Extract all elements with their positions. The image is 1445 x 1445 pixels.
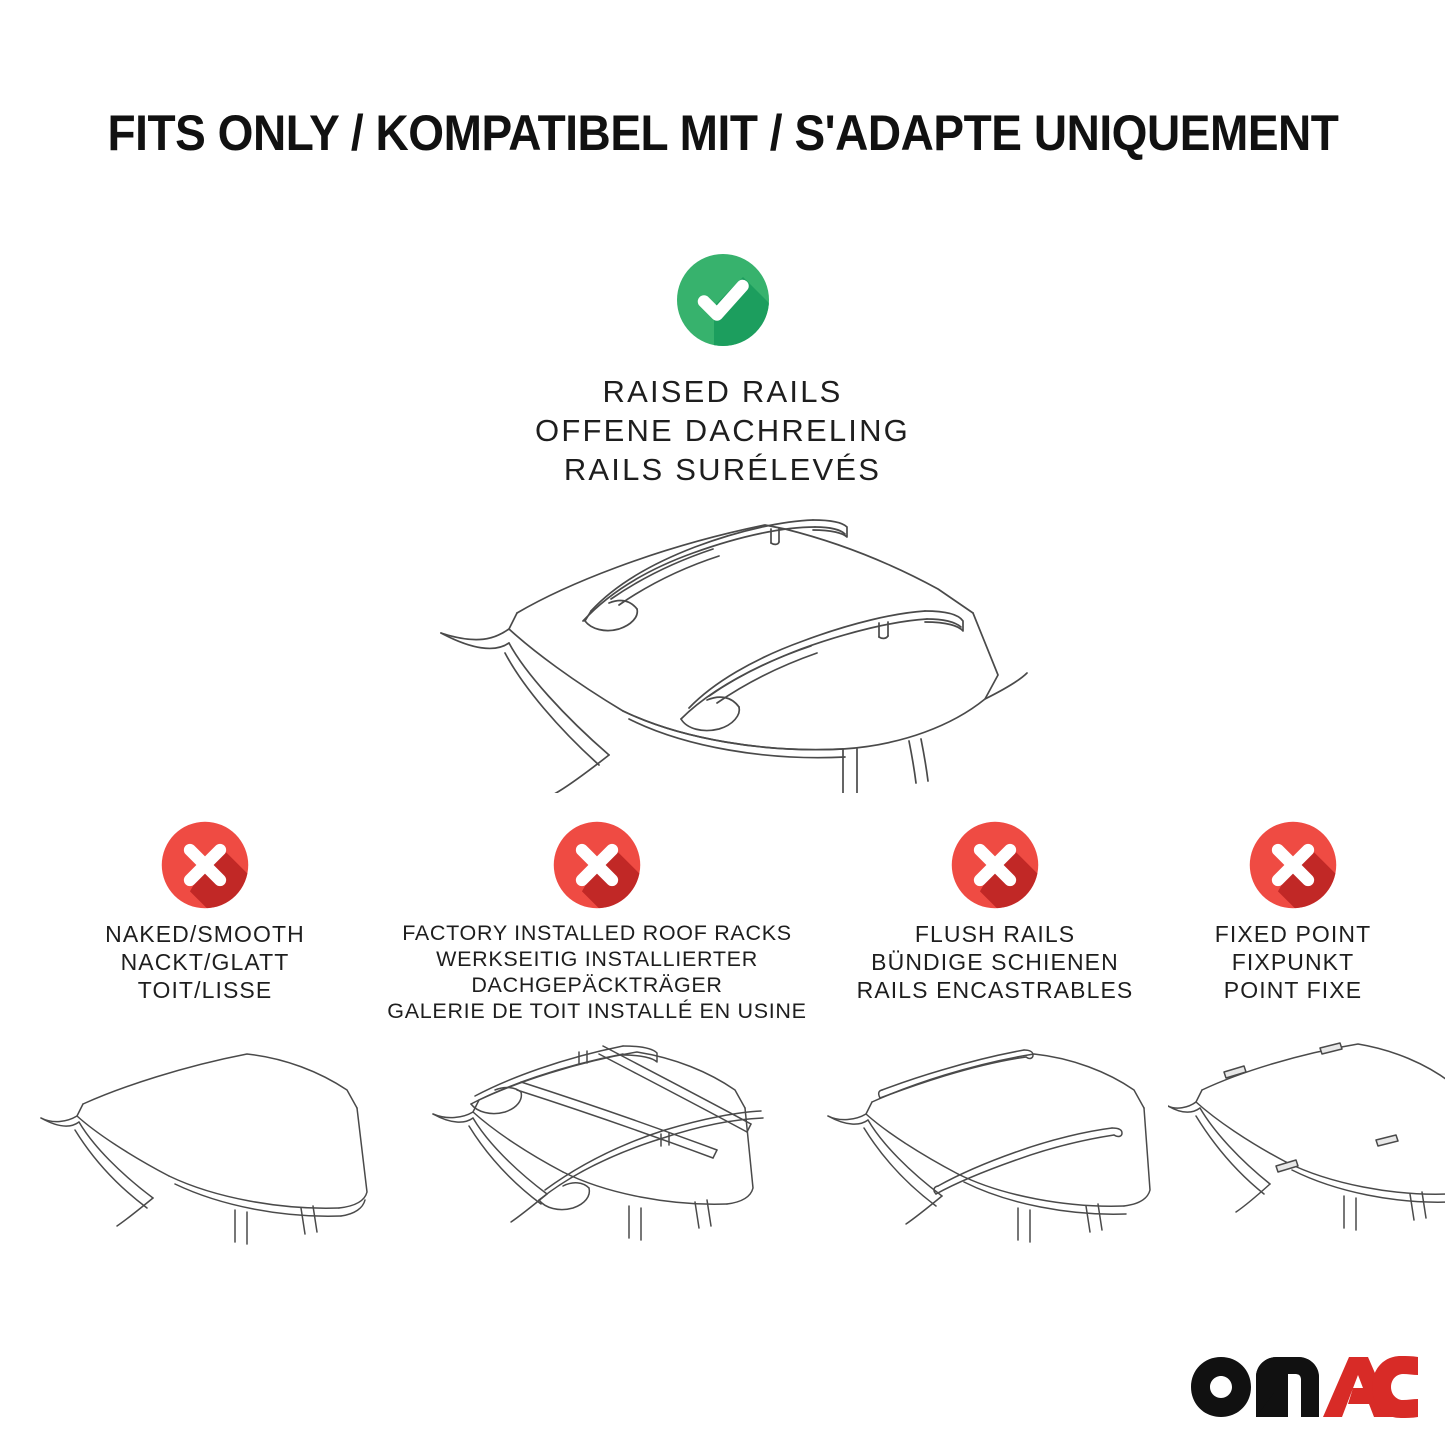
- label-line-fr: GALERIE DE TOIT INSTALLÉ EN USINE: [372, 998, 822, 1024]
- label-line-fr: RAILS ENCASTRABLES: [820, 976, 1170, 1004]
- label-line-en: NAKED/SMOOTH: [30, 920, 380, 948]
- cross-circle-icon: [1246, 818, 1340, 912]
- omac-logo: [1190, 1355, 1420, 1421]
- label-line-fr: POINT FIXE: [1168, 976, 1418, 1004]
- label-line-fr: TOIT/LISSE: [30, 976, 380, 1004]
- car-roof-fixed-points-illustration: [1168, 1028, 1445, 1258]
- compatible-label-line-de: OFFENE DACHRELING: [0, 411, 1445, 450]
- cross-circle-icon: [158, 818, 252, 912]
- label-line-de: NACKT/GLATT: [30, 948, 380, 976]
- incompatible-label-factory-racks: FACTORY INSTALLED ROOF RACKS WERKSEITIG …: [372, 920, 822, 1024]
- cross-circle-icon: [550, 818, 644, 912]
- car-roof-raised-rails-illustration: [413, 503, 1033, 793]
- label-line-de: BÜNDIGE SCHIENEN: [820, 948, 1170, 976]
- incompatible-label-fixed-point: FIXED POINT FIXPUNKT POINT FIXE: [1168, 920, 1418, 1004]
- compatible-label-line-en: RAISED RAILS: [0, 372, 1445, 411]
- compatible-label: RAISED RAILS OFFENE DACHRELING RAILS SUR…: [0, 372, 1445, 489]
- compatible-label-line-fr: RAILS SURÉLEVÉS: [0, 450, 1445, 489]
- label-line-de: FIXPUNKT: [1168, 948, 1418, 976]
- label-line-de-2: DACHGEPÄCKTRÄGER: [372, 972, 822, 998]
- car-roof-flush-rails-illustration: [820, 1028, 1170, 1258]
- label-line-en: FLUSH RAILS: [820, 920, 1170, 948]
- label-line-de-1: WERKSEITIG INSTALLIERTER: [372, 946, 822, 972]
- incompatible-label-naked-smooth: NAKED/SMOOTH NACKT/GLATT TOIT/LISSE: [30, 920, 380, 1004]
- label-line-en: FACTORY INSTALLED ROOF RACKS: [372, 920, 822, 946]
- incompatible-row: NAKED/SMOOTH NACKT/GLATT TOIT/LISSE: [0, 818, 1445, 1298]
- incompatible-label-flush-rails: FLUSH RAILS BÜNDIGE SCHIENEN RAILS ENCAS…: [820, 920, 1170, 1004]
- compatible-section: RAISED RAILS OFFENE DACHRELING RAILS SUR…: [0, 250, 1445, 793]
- incompatible-item-fixed-point: FIXED POINT FIXPUNKT POINT FIXE: [1168, 818, 1418, 1258]
- car-roof-factory-crossbars-illustration: [417, 1030, 777, 1270]
- check-circle-icon: [673, 250, 773, 350]
- incompatible-item-naked-smooth: NAKED/SMOOTH NACKT/GLATT TOIT/LISSE: [30, 818, 380, 1258]
- page-title-bar: FITS ONLY / KOMPATIBEL MIT / S'ADAPTE UN…: [0, 104, 1445, 162]
- incompatible-item-flush-rails: FLUSH RAILS BÜNDIGE SCHIENEN RAILS ENCAS…: [820, 818, 1170, 1258]
- label-line-en: FIXED POINT: [1168, 920, 1418, 948]
- cross-circle-icon: [948, 818, 1042, 912]
- incompatible-item-factory-racks: FACTORY INSTALLED ROOF RACKS WERKSEITIG …: [372, 818, 822, 1270]
- car-roof-bare-smooth-illustration: [35, 1028, 375, 1258]
- page-title: FITS ONLY / KOMPATIBEL MIT / S'ADAPTE UN…: [107, 104, 1338, 162]
